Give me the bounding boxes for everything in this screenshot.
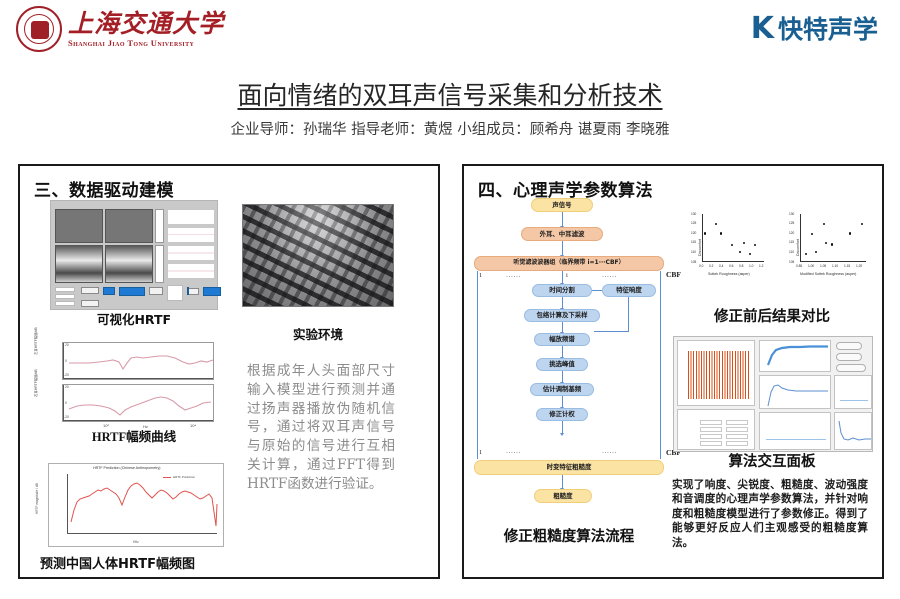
flow-dots-right-bottom: ······ [602,450,617,457]
scatter1-xlabel: Sottek Roughness (asper) [708,272,750,276]
flow-node-sound-signal: 声信号 [531,198,593,212]
scatter1-xtick-2: 0.4 [719,264,723,268]
scatter2-ytick-120: 120 [789,231,794,235]
page-subtitle: 企业导师：孙瑞华 指导老师：黄煜 小组成员：顾希舟 谌夏雨 李晓雅 [0,118,900,139]
experiment-environment-photo [242,204,394,307]
scatter1-xtick-5: 1.0 [749,264,753,268]
flow-arrow-2 [562,241,563,255]
hrtf-xtick-1: 10² [103,423,109,428]
hrtf-bottom-ylabel: 右耳HRTF幅值/dB [33,369,38,397]
predicted-hrtf-chart: HRTF Prediction (Chinese Anthropometry) … [48,463,224,547]
scatter2-ytick-110: 110 [789,250,794,254]
hrtf-curve-chart-bottom: 右耳HRTF幅值/dB 20 0 -20 [62,384,214,422]
hrtf-top-ytick-max: 20 [65,343,69,347]
hrtf-visualization-screenshot [50,200,218,310]
flow-node-time-varying-roughness: 时变特征粗糙度 [474,460,664,475]
right-panel-description: 实现了响度、尖锐度、粗糙度、波动强度和音调度的心理声学参数算法，并针对响度和粗糙… [672,478,868,550]
flow-feedback-horizontal [594,331,629,332]
hrtf-bottom-ytick-mid: 0 [65,401,67,405]
predicted-hrtf-legend: HRTF Prediction [173,475,195,479]
flow-arrow-3 [562,271,563,283]
scatter2-ytick-115: 115 [789,240,794,244]
flow-index-mid: i [566,272,568,279]
hrtf-top-ytick-min: -20 [64,373,69,377]
scatter1-ytick-120: 120 [691,231,696,235]
flow-node-peak-picking: 挑选峰值 [536,358,588,371]
scatter1-xtick-0: 0.0 [699,264,703,268]
company-k-mark-icon: K [751,14,774,44]
flow-arrow-8 [562,396,563,407]
flow-dots-left-bottom: ······ [506,450,521,457]
flow-node-roughness: 粗糙度 [534,489,592,503]
flow-arrow-4 [562,297,563,308]
flow-dots-right-top: ······ [602,274,617,281]
left-panel-description: 根据成年人头面部尺寸输入模型进行预测并通过扬声器播放伪随机信号，通过将双耳声信号… [247,362,395,493]
flow-index-left: 1 [479,272,482,279]
hrtf-bottom-ytick-min: -20 [64,415,69,419]
figure-caption-algorithm-panel: 算法交互面板 [672,455,872,471]
hrtf-xlabel: Hz [143,424,148,429]
scatter2-xtick-4: 1.15 [844,264,850,268]
scatter2-xtick-1: 1.00 [808,264,814,268]
scatter2-xtick-0: 0.85 [796,264,802,268]
flow-dots-left-top: ······ [506,274,521,281]
roughness-algorithm-flowchart: 声信号 外耳、中耳滤波 听觉滤波波器组（临界频带 i=1···CBF） 1 ··… [474,198,664,528]
hrtf-curve-line-left [63,343,215,381]
hrtf-xtick-3: 10⁴ [190,423,196,428]
flow-node-envelope-downsample: 包络计算及下采样 [524,309,600,322]
slide-root: 上海交通大学 Shanghai Jiao Tong University K 快… [0,0,900,599]
scatter1-ytick-110: 110 [691,250,696,254]
flow-arrow-9 [562,421,563,433]
flow-arrow-10 [562,475,563,488]
scatter1-xtick-4: 0.8 [739,264,743,268]
scatter2-ytick-105: 105 [789,260,794,264]
sjtu-seal-icon [16,6,62,52]
scatter2-axes [800,214,866,262]
company-name-cn: 快特声学 [778,17,878,42]
figure-caption-predicted-hrtf: 预测中国人体HRTF幅频图 [28,558,258,572]
scatter1-xtick-6: 1.2 [759,264,763,268]
predicted-hrtf-xlabel: f/Hz [133,540,139,544]
flow-feedback-vertical [628,297,629,331]
sjtu-name-cn: 上海交通大学 [68,11,224,36]
scatter-modified-sottek-roughness: Discomfort Modified Sottek Roughness (as… [784,210,876,280]
figure-caption-experiment-environment: 实验环境 [242,328,394,342]
flow-rail-left [477,271,478,459]
flow-node-scaled-spectrum: 幅放频谱 [534,333,590,346]
figure-caption-flowchart: 修正粗糙度算法流程 [474,530,664,546]
scatter1-ylabel: Discomfort [698,239,702,256]
scatter1-ytick-125: 125 [691,221,696,225]
scatter2-xtick-3: 1.10 [832,264,838,268]
predicted-hrtf-legend-swatch [163,477,171,478]
flow-index-left-bottom: 1 [479,449,482,456]
flow-link-loudness [592,290,602,291]
scatter2-ytick-130: 130 [789,212,794,216]
scatter2-xtick-5: 1.20 [856,264,862,268]
left-panel-heading: 三、数据驱动建模 [34,176,438,201]
hrtf-top-ylabel: 左耳HRTF幅值/dB [33,327,38,355]
scatter2-xtick-2: 1.05 [820,264,826,268]
hrtf-curve-line-right [63,385,215,423]
sjtu-wordmark: 上海交通大学 Shanghai Jiao Tong University [68,11,224,48]
predicted-hrtf-ylabel: HRTF magnitude / dB [35,483,39,514]
figure-caption-hrtf-visualization: 可视化HRTF [50,313,218,327]
hrtf-curve-chart-top: 左耳HRTF幅值/dB 20 0 -20 [62,342,214,380]
company-logo: K 快特声学 [751,14,878,44]
scatter1-ytick-105: 105 [691,260,696,264]
hrtf-top-ytick-mid: 0 [65,359,67,363]
page-title: 面向情绪的双耳声信号采集和分析技术 [0,76,900,112]
flow-node-weighting-correction: 修正计权 [536,408,588,421]
flow-node-specific-loudness: 特征响度 [602,284,656,297]
flow-node-time-segmentation: 时间分割 [532,284,592,297]
flow-arrow-5 [562,322,563,332]
scatter1-xtick-1: 0.2 [709,264,713,268]
scatter2-ylabel: Discomfort [796,239,800,256]
flow-rail-right [660,271,661,459]
sjtu-name-en: Shanghai Jiao Tong University [68,39,224,48]
flow-node-ear-filtering: 外耳、中耳滤波 [521,227,603,241]
hrtf-bottom-ytick-max: 20 [65,385,69,389]
predicted-hrtf-title: HRTF Prediction (Chinese Anthropometry) [93,466,160,470]
predicted-hrtf-line [68,474,218,534]
flow-node-estimate-modulation: 估计调制基频 [530,383,594,396]
scatter1-ytick-130: 130 [691,212,696,216]
sjtu-logo: 上海交通大学 Shanghai Jiao Tong University [16,6,224,52]
flow-label-cbf-top: CBF [666,270,681,279]
scatter-sottek-roughness: Discomfort Sottek Roughness (asper) 130 … [686,210,772,280]
figure-caption-hrtf-curve: HRTF幅频曲线 [50,431,218,445]
flow-arrow-1 [562,212,563,226]
scatter2-xlabel: Modified Sottek Roughness (asper) [800,272,856,276]
scatter1-xtick-3: 0.6 [729,264,733,268]
scatter1-axes [702,214,764,262]
algorithm-panel-screenshot [673,336,873,452]
scatter2-ytick-125: 125 [789,221,794,225]
scatter1-ytick-115: 115 [691,240,696,244]
flow-arrow-6 [562,346,563,357]
flow-arrow-7 [562,371,563,382]
flow-node-auditory-filterbank: 听觉滤波波器组（临界频带 i=1···CBF） [474,256,664,271]
figure-caption-comparison: 修正前后结果对比 [672,310,872,326]
